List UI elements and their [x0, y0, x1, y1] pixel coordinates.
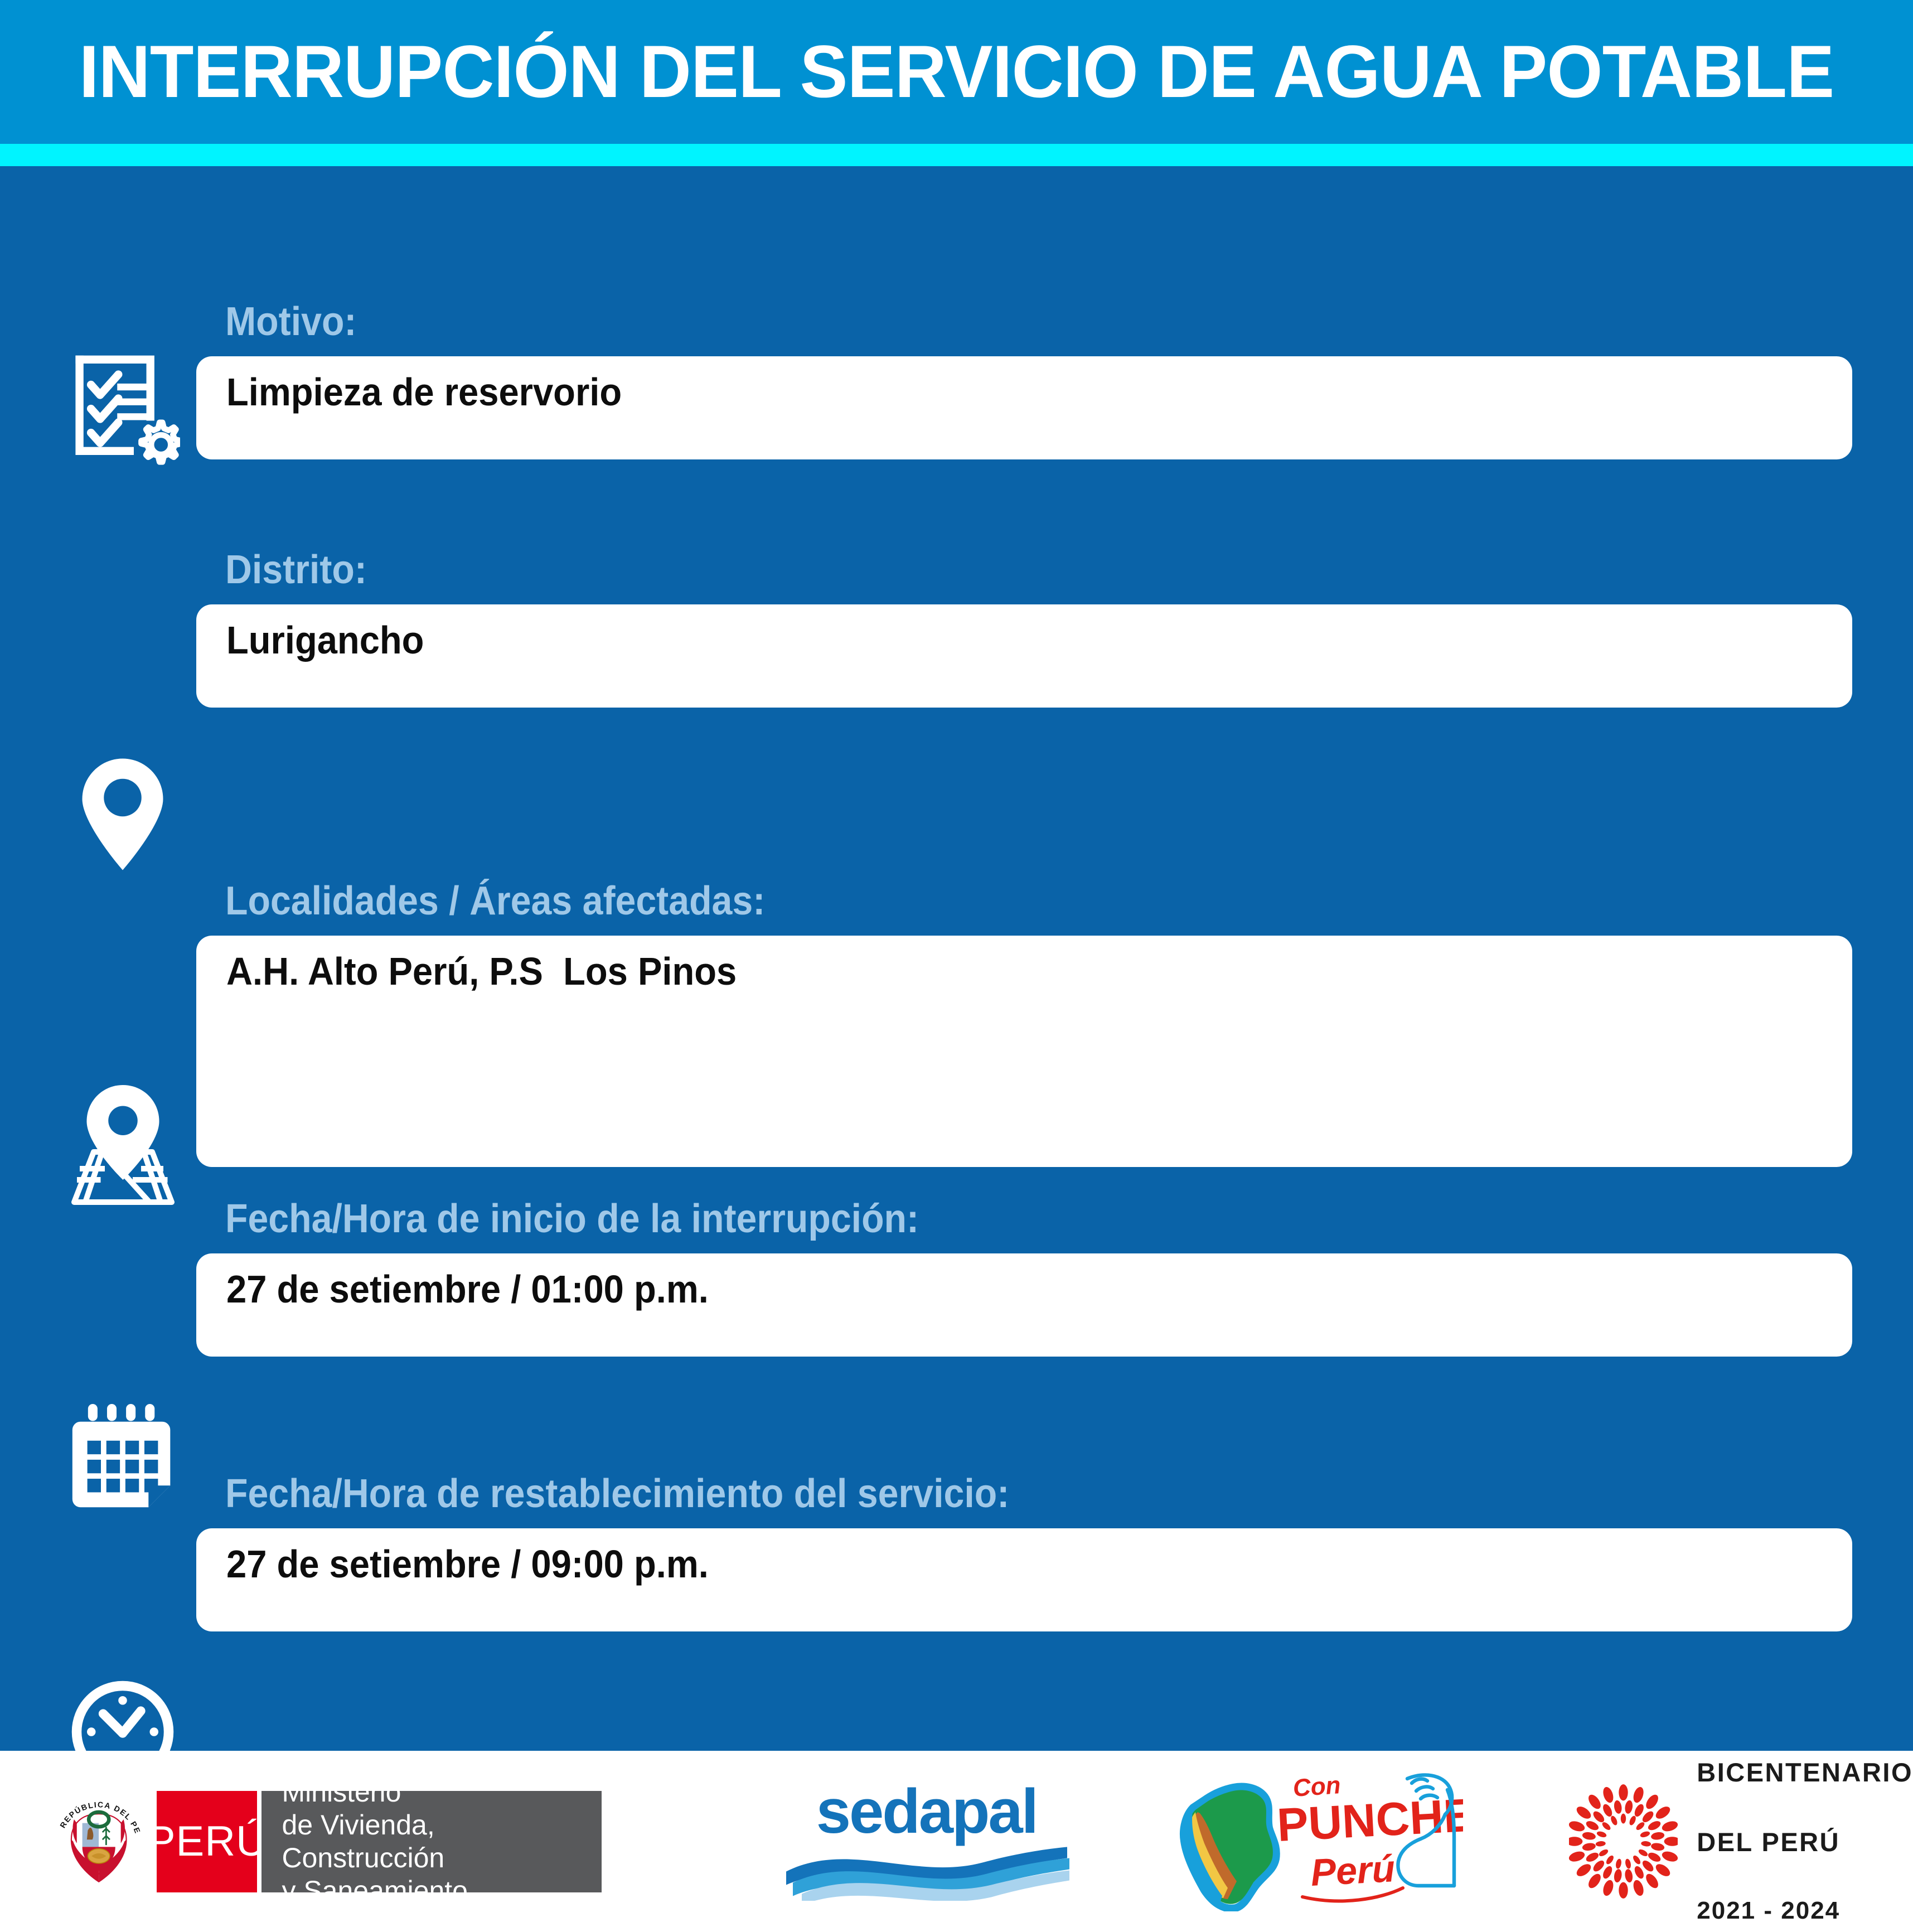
field-value-localidades: A.H. Alto Perú, P.S Los Pinos [226, 951, 737, 992]
field-value-restablecimiento: 27 de setiembre / 09:00 p.m. [226, 1544, 709, 1585]
peru-coat-of-arms-icon: REPÚBLICA DEL PERÚ [53, 1781, 144, 1901]
field-box-motivo[interactable]: Limpieza de reservorio [196, 356, 1852, 459]
field-box-restablecimiento[interactable]: 27 de setiembre / 09:00 p.m. [196, 1528, 1852, 1631]
bicentenario-line1: BICENTENARIO [1697, 1755, 1913, 1790]
sedapal-waves-icon [782, 1842, 1072, 1901]
bicentenario-years: 2021 - 2024 [1697, 1895, 1913, 1928]
bicentenario-logo: BICENTENARIO DEL PERÚ 2021 - 2024 [1569, 1721, 1913, 1932]
con-punche-peru-logo: Con PUNCHE Perú [1173, 1772, 1463, 1911]
field-box-localidades[interactable]: A.H. Alto Perú, P.S Los Pinos [196, 936, 1852, 1167]
field-value-motivo: Limpieza de reservorio [226, 372, 622, 413]
sedapal-logo: sedapal [780, 1782, 1073, 1901]
field-value-distrito: Lurigancho [226, 620, 424, 661]
field-label-restablecimiento: Fecha/Hora de restablecimiento del servi… [225, 1474, 1009, 1514]
field-box-inicio[interactable]: 27 de setiembre / 01:00 p.m. [196, 1253, 1852, 1357]
calendar-icon [47, 1398, 198, 1518]
field-label-localidades: Localidades / Áreas afectadas: [225, 881, 765, 921]
field-box-distrito[interactable]: Lurigancho [196, 604, 1852, 708]
clipboard-checklist-gear-icon [47, 350, 198, 467]
bicentenario-text-block: BICENTENARIO DEL PERÚ 2021 - 2024 [1697, 1721, 1913, 1932]
page-title: INTERRUPCIÓN DEL SERVICIO DE AGUA POTABL… [79, 35, 1834, 109]
svg-text:Perú: Perú [1310, 1847, 1396, 1894]
peru-ministry-logo: REPÚBLICA DEL PERÚ PERÚ [53, 1781, 602, 1901]
field-label-inicio: Fecha/Hora de inicio de la interrupción: [225, 1199, 919, 1239]
peru-label: PERÚ [147, 1817, 267, 1866]
ministry-name-box: Ministerio de Vivienda, Construcción y S… [261, 1791, 602, 1892]
header-band: INTERRUPCIÓN DEL SERVICIO DE AGUA POTABL… [0, 0, 1913, 144]
field-label-motivo: Motivo: [225, 302, 356, 342]
ministry-label: Ministerio de Vivienda, Construcción y S… [282, 1776, 577, 1907]
body-area: Motivo: Limpieza de reservorio Distrito:… [0, 166, 1913, 1751]
field-label-distrito: Distrito: [225, 550, 367, 590]
bicentenario-burst-icon [1569, 1781, 1678, 1901]
map-pin-icon [47, 754, 198, 874]
con-punche-peru-icon: Con PUNCHE Perú [1173, 1772, 1463, 1911]
footer-logo-bar: REPÚBLICA DEL PERÚ PERÚ [0, 1751, 1913, 1932]
cyan-accent-stripe [0, 144, 1913, 166]
bicentenario-line2: DEL PERÚ [1697, 1825, 1913, 1860]
water-service-interruption-poster: INTERRUPCIÓN DEL SERVICIO DE AGUA POTABL… [0, 0, 1913, 1932]
map-pin-on-map-icon [47, 1075, 198, 1214]
peru-country-badge: PERÚ [157, 1791, 257, 1892]
field-value-inicio: 27 de setiembre / 01:00 p.m. [226, 1269, 709, 1310]
sedapal-wordmark: sedapal [780, 1782, 1073, 1841]
